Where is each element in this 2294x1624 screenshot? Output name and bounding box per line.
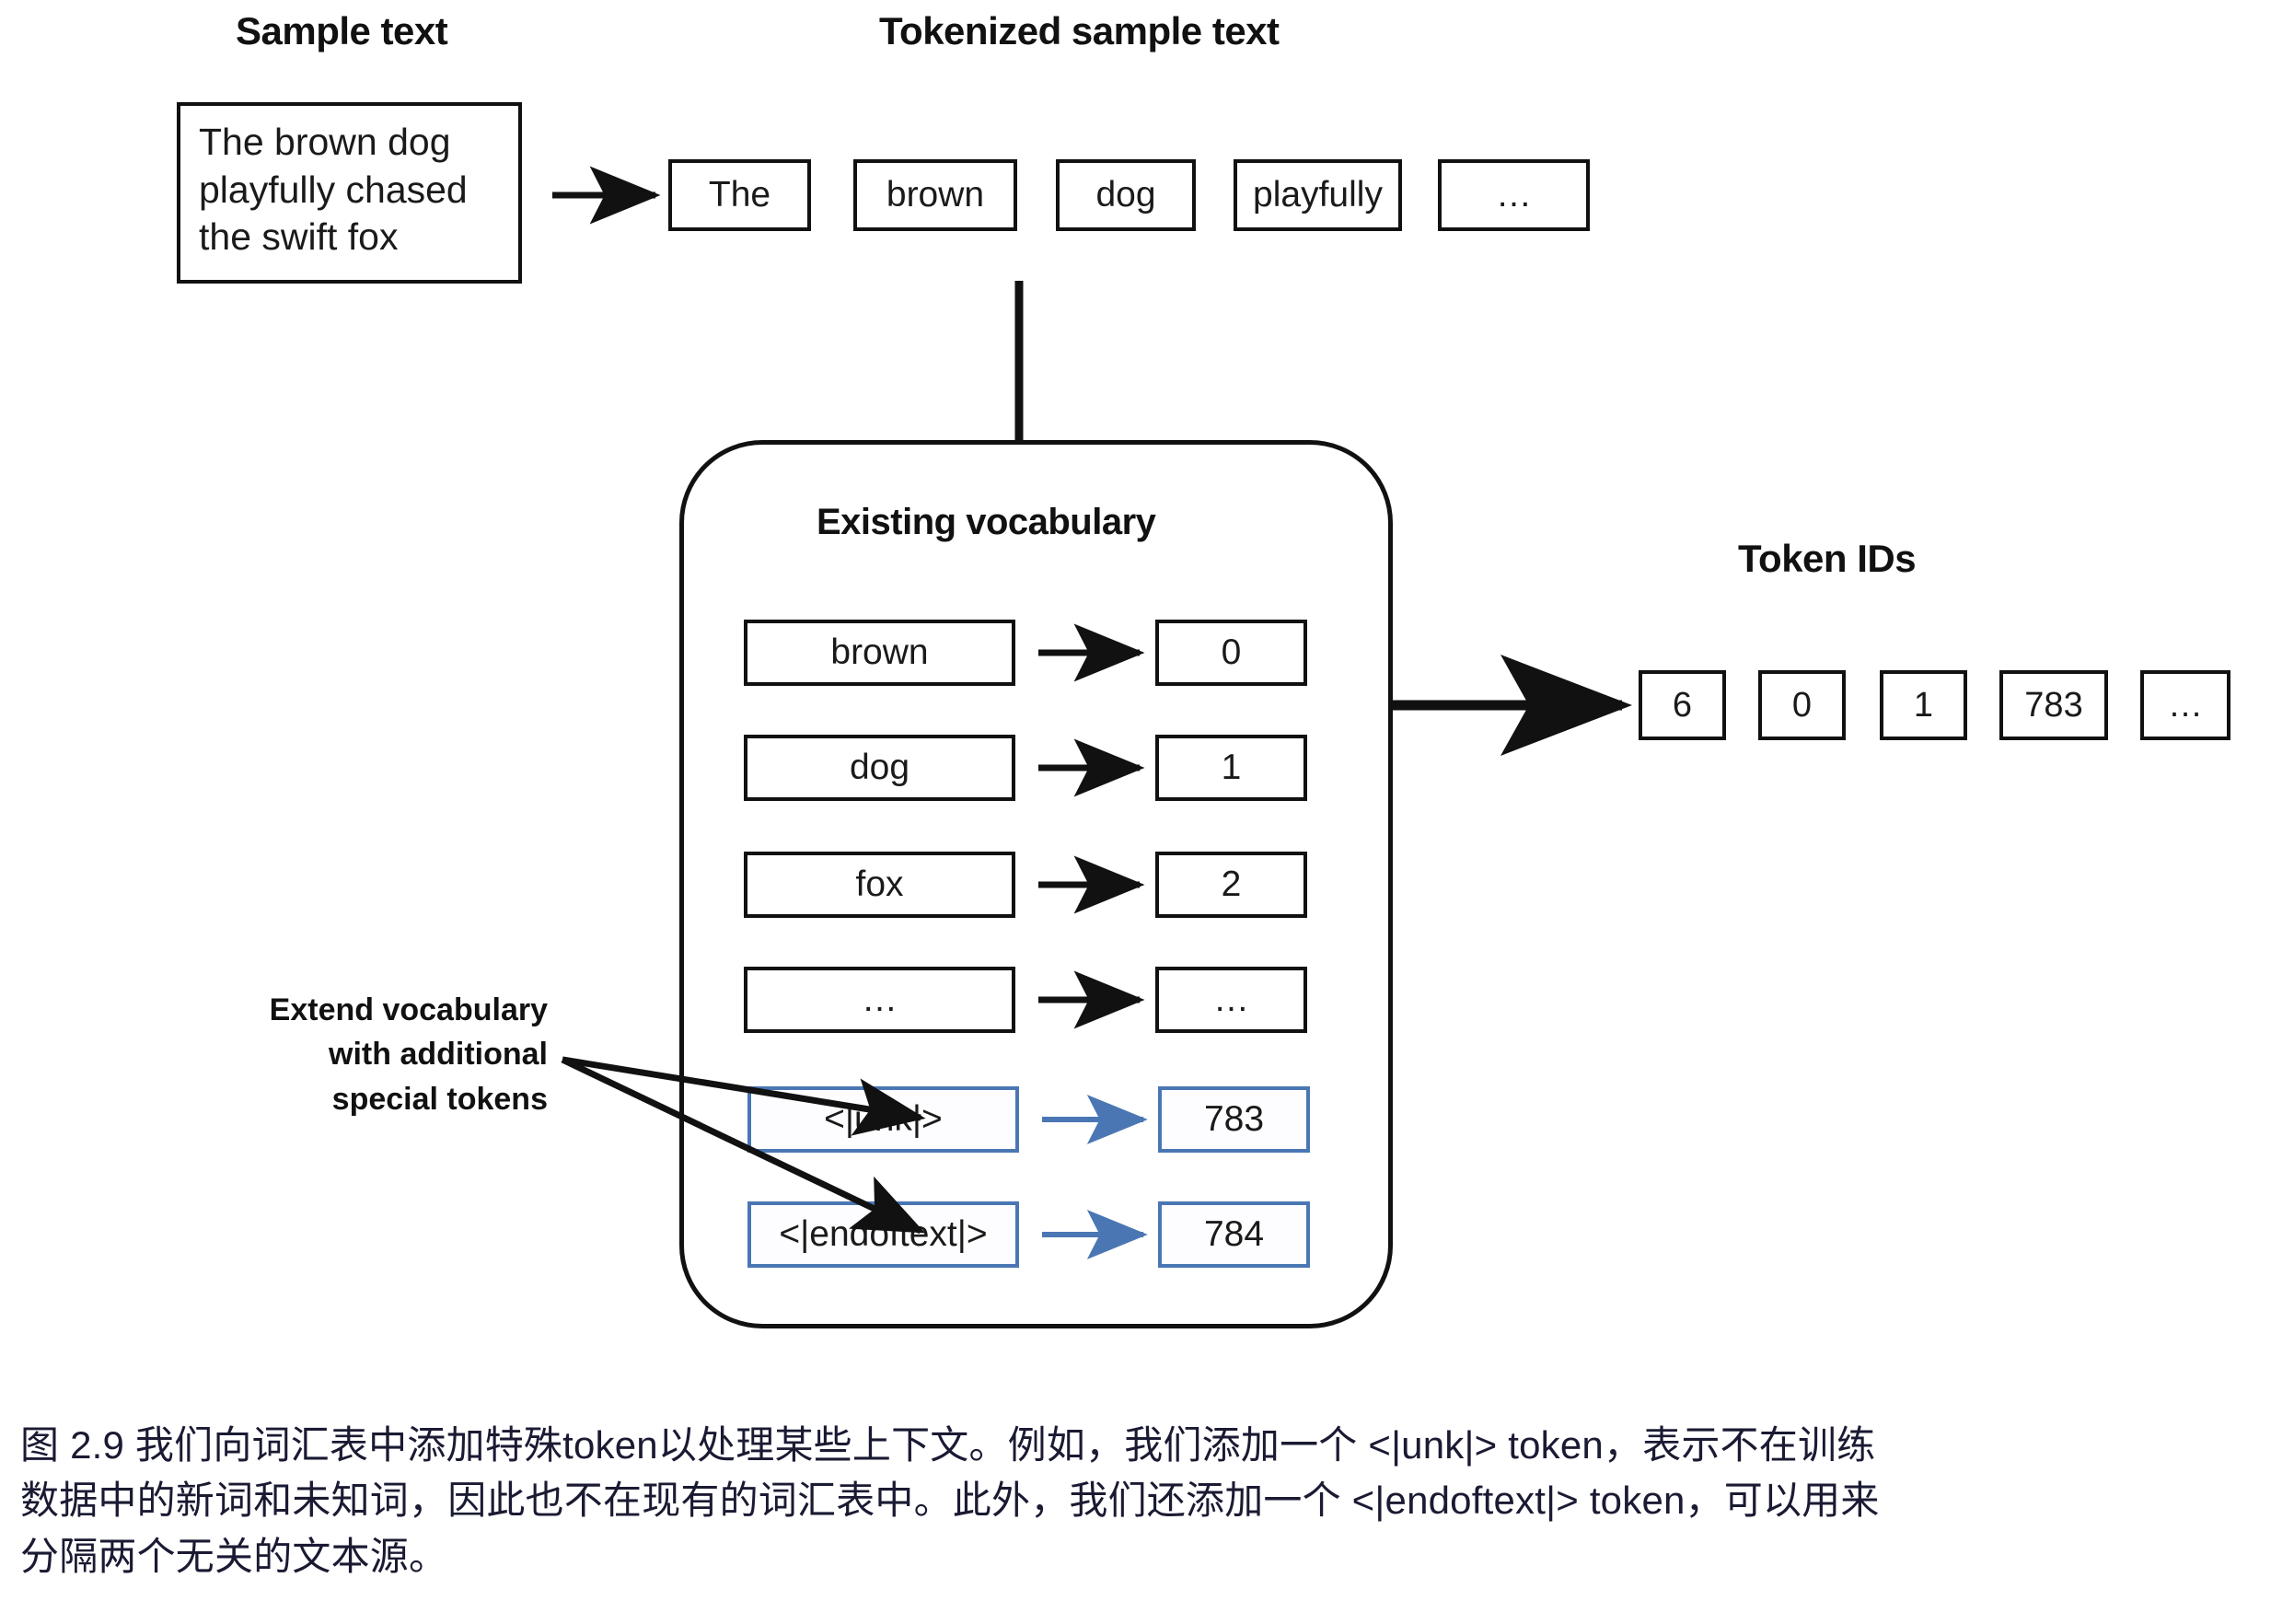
token-box: dog xyxy=(1056,159,1196,231)
annotation-line: special tokens xyxy=(212,1077,548,1121)
token-id-box: 0 xyxy=(1758,670,1846,740)
vocab-id-box: 0 xyxy=(1155,620,1307,686)
token-box: The xyxy=(668,159,811,231)
vocab-id-box: 1 xyxy=(1155,735,1307,801)
heading-token-ids: Token IDs xyxy=(1738,537,1916,581)
annotation-line: with additional xyxy=(212,1032,548,1076)
token-id-box: 6 xyxy=(1639,670,1726,740)
vocab-id-box: 2 xyxy=(1155,852,1307,918)
vocab-word-box: fox xyxy=(744,852,1015,918)
annotation-line: Extend vocabulary xyxy=(212,988,548,1032)
extend-vocabulary-annotation: Extend vocabulary with additional specia… xyxy=(212,988,548,1121)
vocab-id-box-special: 784 xyxy=(1158,1201,1310,1268)
sample-text-line: playfully chased xyxy=(199,167,502,215)
token-box: playfully xyxy=(1234,159,1402,231)
token-id-box: 783 xyxy=(1999,670,2108,740)
sample-text-line: the swift fox xyxy=(199,214,502,261)
sample-text-line: The brown dog xyxy=(199,119,502,167)
token-box: brown xyxy=(853,159,1017,231)
vocab-word-box-special: <|endoftext|> xyxy=(747,1201,1019,1268)
caption-line: 分隔两个无关的文本源。 xyxy=(20,1529,2276,1584)
figure-canvas: Sample text Tokenized sample text Token … xyxy=(0,0,2294,1624)
heading-sample-text: Sample text xyxy=(236,9,447,53)
figure-caption: 图 2.9 我们向词汇表中添加特殊token以处理某些上下文。例如，我们添加一个… xyxy=(20,1418,2276,1584)
token-box: … xyxy=(1438,159,1590,231)
vocab-word-box: dog xyxy=(744,735,1015,801)
vocab-word-box: brown xyxy=(744,620,1015,686)
caption-line: 数据中的新词和未知词，因此也不在现有的词汇表中。此外，我们还添加一个 <|end… xyxy=(20,1473,2276,1528)
vocab-word-box-special: <|unk|> xyxy=(747,1086,1019,1153)
heading-existing-vocabulary: Existing vocabulary xyxy=(817,502,1155,543)
heading-tokenized-sample-text: Tokenized sample text xyxy=(879,9,1280,53)
token-id-box: … xyxy=(2140,670,2230,740)
caption-line: 图 2.9 我们向词汇表中添加特殊token以处理某些上下文。例如，我们添加一个… xyxy=(20,1418,2276,1473)
token-id-box: 1 xyxy=(1880,670,1967,740)
sample-text-box: The brown dog playfully chased the swift… xyxy=(177,102,522,284)
vocab-word-box: … xyxy=(744,967,1015,1033)
vocab-id-box-special: 783 xyxy=(1158,1086,1310,1153)
vocab-id-box: … xyxy=(1155,967,1307,1033)
